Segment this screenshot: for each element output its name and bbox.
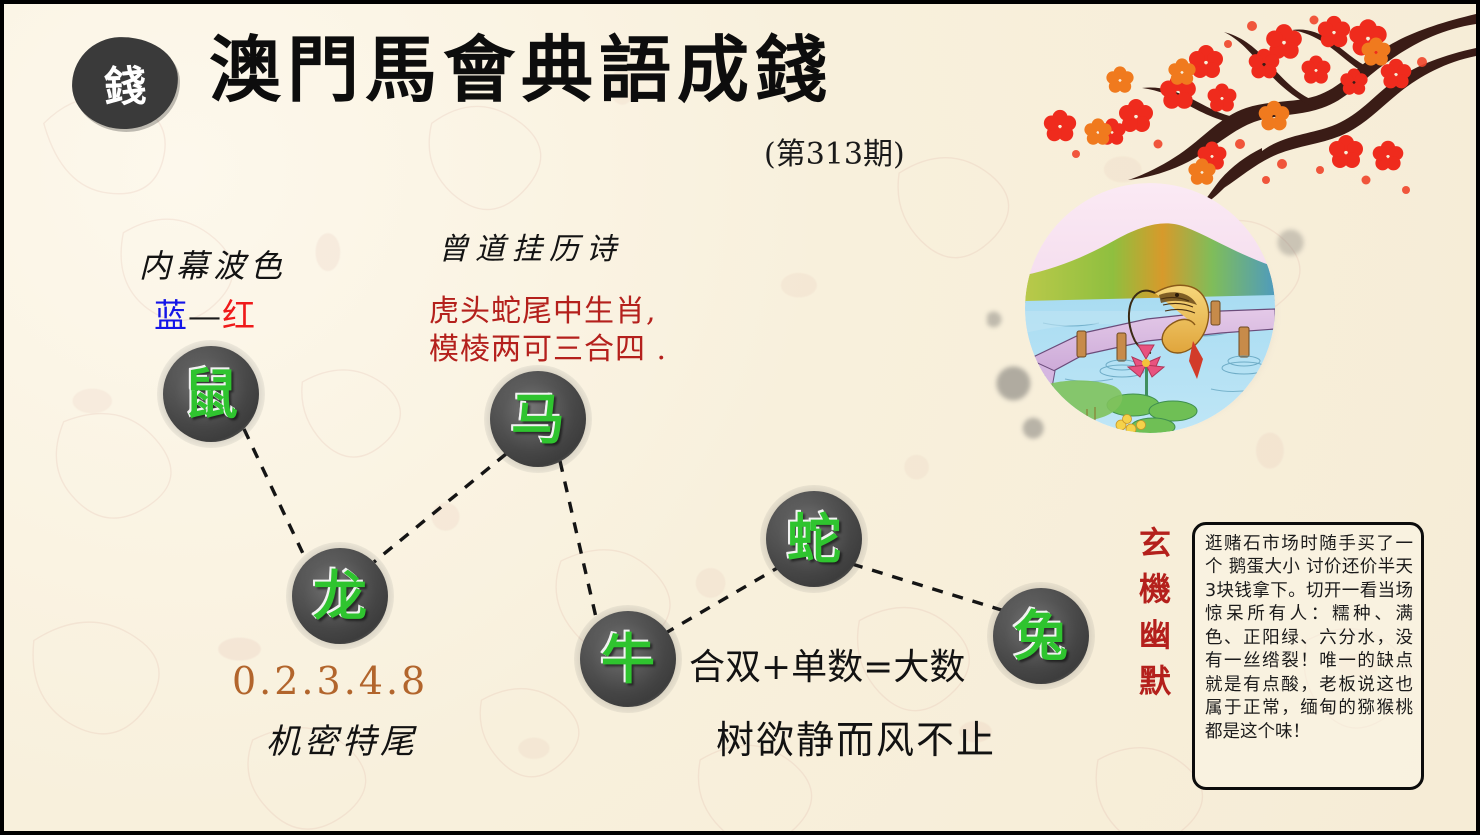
note-text: 逛赌石市场时随手买了一个 鹅蛋大小 讨价还价半天3块钱拿下。切开一看当场惊呆所有… — [1205, 533, 1413, 744]
zodiac-circle-ox[interactable]: 牛 — [580, 611, 676, 707]
zodiac-circle-snake[interactable]: 蛇 — [766, 491, 862, 587]
formula-text: 合双+单数=大数 — [689, 638, 965, 690]
zodiac-circle-dragon[interactable]: 龙 — [292, 548, 388, 644]
special-tail-numbers: 0.2.3.4.8 — [232, 659, 428, 703]
zodiac-label-rabbit: 兔 — [1014, 609, 1068, 663]
special-tail-label: 机密特尾 — [266, 714, 418, 763]
wave-color-label: 内幕波色 — [139, 241, 287, 287]
wave-color-values: 蓝—红 — [154, 289, 256, 337]
zodiac-label-snake: 蛇 — [787, 512, 841, 566]
vertical-label-xuanji: 玄機幽默 — [1137, 526, 1169, 710]
poem-line-2: 模棱两可三合四 . — [429, 324, 667, 368]
zodiac-circle-horse[interactable]: 马 — [490, 371, 586, 467]
proverb-text: 树欲静而风不止 — [716, 709, 996, 764]
zodiac-circle-rabbit[interactable]: 兔 — [993, 588, 1089, 684]
wave-color-dash: — — [188, 296, 222, 335]
issue-number: (第313期) — [764, 129, 905, 173]
crane-bridge-lotus-illustration — [1025, 183, 1275, 433]
illustration-wrapper — [1007, 169, 1297, 459]
zodiac-label-ox: 牛 — [601, 632, 655, 686]
poem-heading: 曾道挂历诗 — [438, 224, 623, 268]
page-title: 澳門馬會典語成錢 — [209, 34, 833, 106]
poster-canvas: 錢 澳門馬會典語成錢 (第313期) — [0, 0, 1480, 835]
wave-color-red: 红 — [222, 296, 256, 335]
wave-color-blue: 蓝 — [154, 296, 188, 335]
zodiac-circle-rat[interactable]: 鼠 — [163, 346, 259, 442]
note-box: 逛赌石市场时随手买了一个 鹅蛋大小 讨价还价半天3块钱拿下。切开一看当场惊呆所有… — [1192, 522, 1424, 790]
zodiac-label-dragon: 龙 — [313, 569, 367, 623]
zodiac-label-horse: 马 — [511, 392, 565, 446]
zodiac-label-rat: 鼠 — [184, 367, 238, 421]
